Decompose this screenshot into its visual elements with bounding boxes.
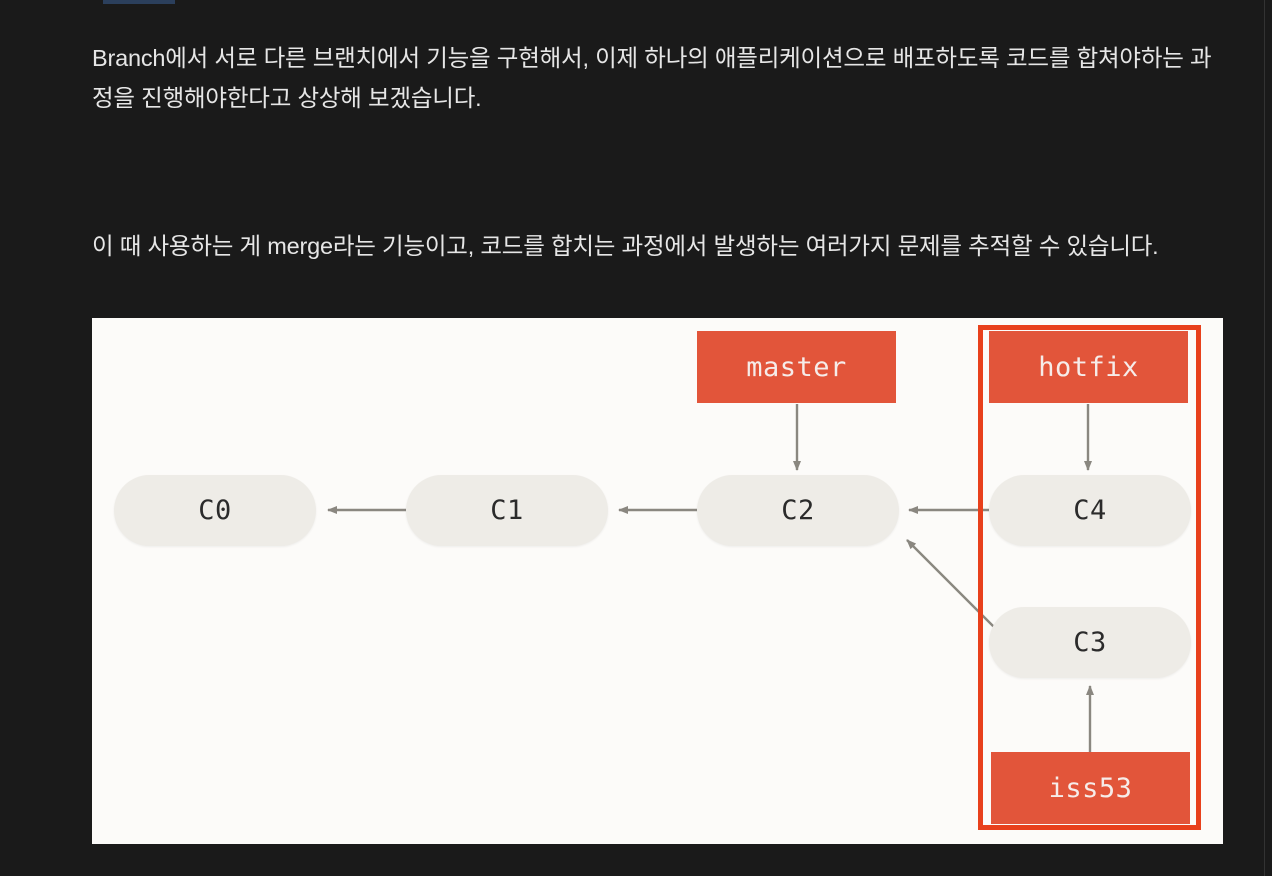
branch-label-iss53[interactable]: iss53 — [991, 752, 1190, 824]
commit-node-c2[interactable]: C2 — [697, 475, 899, 546]
commit-node-c1[interactable]: C1 — [406, 475, 608, 546]
paragraph-1: Branch에서 서로 다른 브랜치에서 기능을 구현해서, 이제 하나의 애플… — [92, 38, 1222, 118]
commit-node-c4[interactable]: C4 — [989, 475, 1191, 546]
branch-label-hotfix[interactable]: hotfix — [989, 331, 1188, 403]
page-root: Branch에서 서로 다른 브랜치에서 기능을 구현해서, 이제 하나의 애플… — [0, 0, 1272, 876]
branch-label-master[interactable]: master — [697, 331, 896, 403]
git-branch-merge-figure: C0 C1 C2 C3 C4 master hotfix iss53 — [92, 318, 1223, 844]
commit-node-c3[interactable]: C3 — [989, 607, 1191, 678]
commit-node-c0[interactable]: C0 — [114, 475, 316, 546]
top-highlight-bar — [103, 0, 175, 4]
edge-c3-c2 — [907, 540, 995, 628]
right-column-divider — [1264, 0, 1265, 876]
paragraph-2: 이 때 사용하는 게 merge라는 기능이고, 코드를 합치는 과정에서 발생… — [92, 226, 1222, 266]
figure-canvas: C0 C1 C2 C3 C4 master hotfix iss53 — [92, 318, 1223, 844]
